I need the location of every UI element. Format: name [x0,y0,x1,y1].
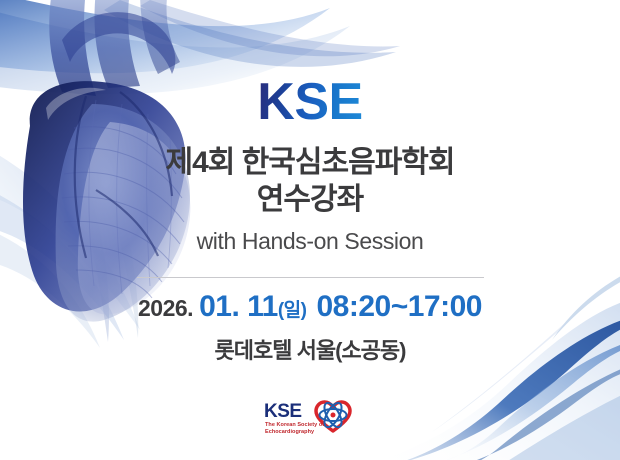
event-weekday: (일) [278,295,307,322]
subtitle: with Hands-on Session [197,228,424,255]
event-year: 2026. [138,295,193,322]
content-column: KSE 제4회 한국심초음파학회 연수강좌 with Hands-on Sess… [0,0,620,460]
society-logo: KSE The Korean Society of Echocardiograp… [264,398,356,440]
kse-wordmark: KSE [257,76,362,128]
society-logo-graphic: KSE The Korean Society of Echocardiograp… [264,398,356,440]
society-logo-tagline-line1: The Korean Society of [265,422,324,428]
event-month-day: 01. 11 [199,290,278,324]
divider [137,277,484,278]
conference-banner: KSE 제4회 한국심초음파학회 연수강좌 with Hands-on Sess… [0,0,620,460]
society-logo-tagline-line2: Echocardiography [265,429,315,435]
page-title: 제4회 한국심초음파학회 연수강좌 [165,145,454,218]
society-logo-wordmark: KSE [264,401,302,422]
title-line-2: 연수강좌 [165,182,454,219]
event-venue: 롯데호텔 서울(소공동) [215,333,406,365]
event-datetime: 2026. 01. 11 (일) 08:20~17:00 [138,290,482,324]
title-line-1: 제4회 한국심초음파학회 [165,145,454,182]
event-time-range: 08:20~17:00 [316,290,481,324]
